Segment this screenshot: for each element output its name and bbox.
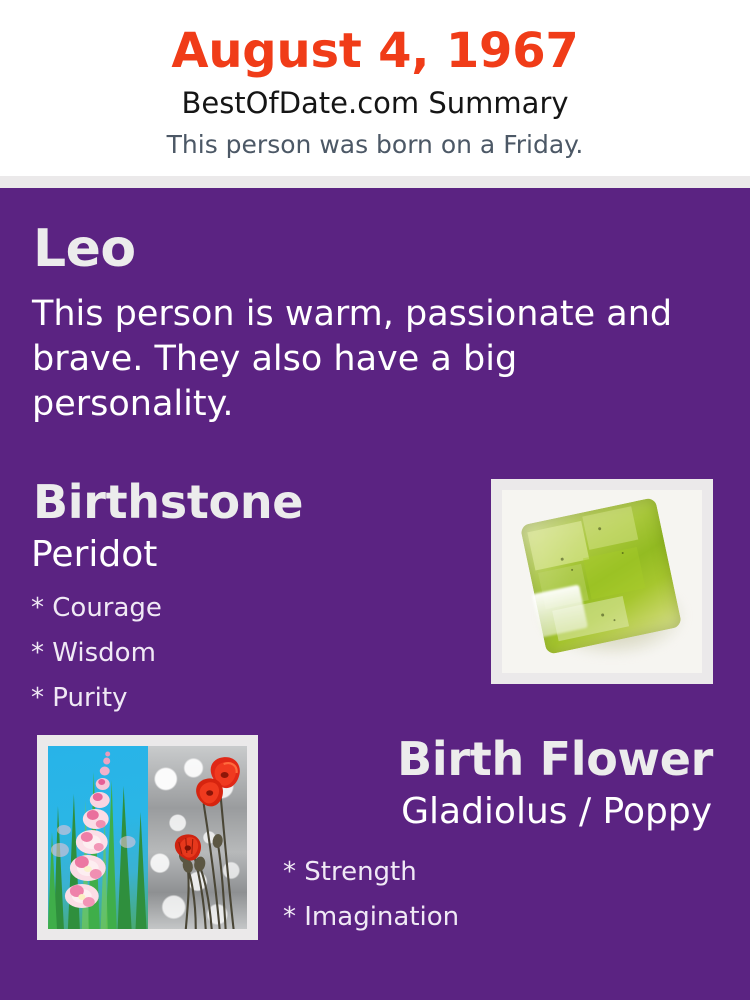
birthstone-traits-list: * Courage * Wisdom * Purity [31, 586, 451, 721]
birthstone-image [502, 490, 702, 673]
site-subtitle: BestOfDate.com Summary [0, 85, 750, 121]
poppy-art [148, 746, 248, 929]
birth-day-note: This person was born on a Friday. [0, 128, 750, 162]
content-panel: Leo This person is warm, passionate and … [0, 188, 750, 1000]
gem-facet [583, 506, 639, 550]
birth-flower-image-frame [37, 735, 258, 940]
birthstone-image-frame [491, 479, 713, 684]
list-item: * Imagination [283, 895, 703, 940]
birth-flower-heading: Birth Flower [397, 733, 713, 785]
gem-facet [583, 547, 646, 600]
gladiolus-art [48, 746, 148, 929]
gladiolus-panel [48, 746, 148, 929]
birthstone-heading: Birthstone [33, 476, 303, 528]
page-title: August 4, 1967 [0, 21, 750, 81]
zodiac-description: This person is warm, passionate and brav… [32, 292, 692, 427]
list-item: * Purity [31, 676, 451, 721]
birthstone-name: Peridot [31, 534, 157, 576]
divider [0, 176, 750, 188]
list-item: * Courage [31, 586, 451, 631]
birth-flower-traits-list: * Strength * Imagination [283, 850, 703, 940]
birth-flower-image [48, 746, 247, 929]
list-item: * Wisdom [31, 631, 451, 676]
list-item: * Strength [283, 850, 703, 895]
poppy-panel [148, 746, 248, 929]
zodiac-sign-name: Leo [33, 220, 136, 278]
birth-flower-name: Gladiolus / Poppy [401, 791, 712, 833]
header: August 4, 1967 BestOfDate.com Summary Th… [0, 0, 750, 176]
summary-card: August 4, 1967 BestOfDate.com Summary Th… [0, 0, 750, 1000]
